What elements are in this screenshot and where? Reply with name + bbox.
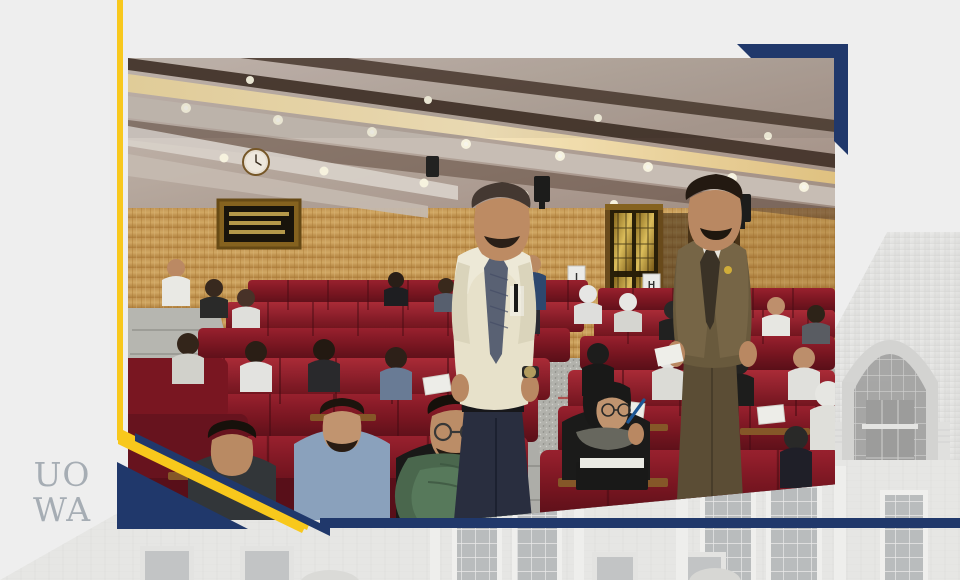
- uowa-logo[interactable]: UO WA: [14, 454, 110, 530]
- logo-line-1: UO: [34, 458, 91, 491]
- logo-line-2: WA: [33, 493, 91, 526]
- navy-corner-bracket: [737, 44, 848, 155]
- navy-baseline-rule: [320, 518, 960, 528]
- poster-canvas: I H F E D: [0, 0, 960, 580]
- decorative-frame: [0, 0, 960, 580]
